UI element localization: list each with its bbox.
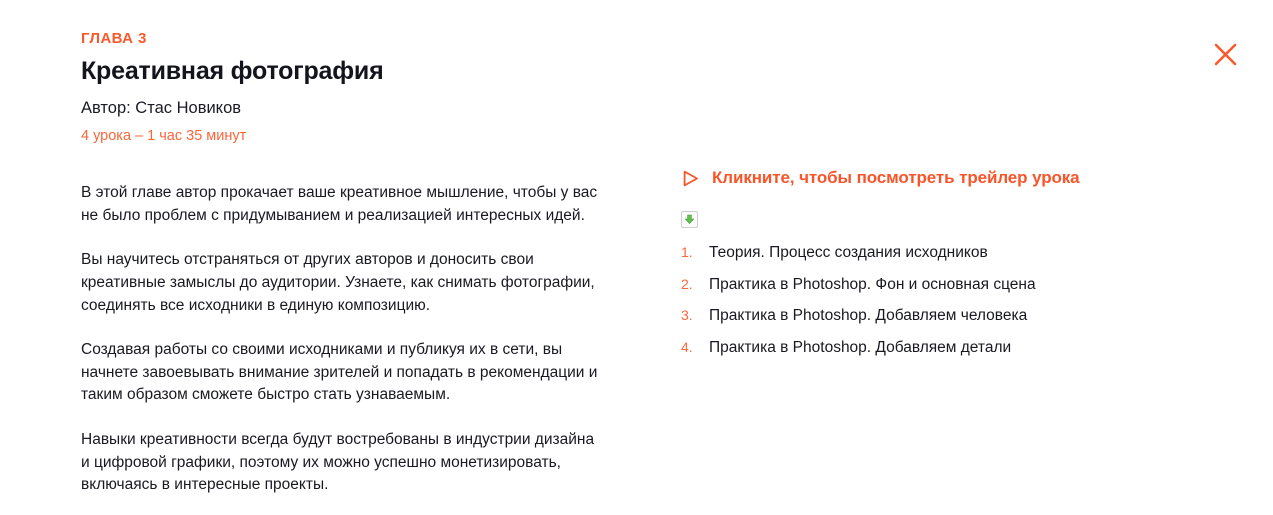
content-columns: ГЛАВА 3 Креативная фотография Автор: Ста… xyxy=(81,30,1273,497)
list-item[interactable]: 1. Теория. Процесс создания исходников xyxy=(681,242,1273,263)
list-item[interactable]: 3. Практика в Photoshop. Добавляем челов… xyxy=(681,305,1273,326)
chapter-eyebrow: ГЛАВА 3 xyxy=(81,30,601,48)
lesson-title: Практика в Photoshop. Добавляем человека xyxy=(709,305,1027,326)
description-paragraph: Навыки креативности всегда будут востреб… xyxy=(81,429,601,497)
description-paragraph: Вы научитесь отстраняться от других авто… xyxy=(81,249,601,317)
lesson-title: Теория. Процесс создания исходников xyxy=(709,242,988,263)
list-item[interactable]: 4. Практика в Photoshop. Добавляем детал… xyxy=(681,337,1273,358)
lesson-title: Практика в Photoshop. Фон и основная сце… xyxy=(709,274,1036,295)
description-paragraph: В этой главе автор прокачает ваше креати… xyxy=(81,182,601,227)
right-column: Кликните, чтобы посмотреть трейлер урока… xyxy=(681,30,1273,368)
author-line: Автор: Стас Новиков xyxy=(81,98,601,119)
list-item[interactable]: 2. Практика в Photoshop. Фон и основная … xyxy=(681,274,1273,295)
lesson-list: 1. Теория. Процесс создания исходников 2… xyxy=(681,242,1273,358)
lesson-number: 4. xyxy=(681,337,709,358)
chapter-description: В этой главе автор прокачает ваше креати… xyxy=(81,182,601,497)
lesson-number: 3. xyxy=(681,305,709,326)
left-column: ГЛАВА 3 Креативная фотография Автор: Ста… xyxy=(81,30,601,497)
attachment-badge[interactable] xyxy=(681,211,698,228)
description-paragraph: Создавая работы со своими исходниками и … xyxy=(81,339,601,407)
trailer-link-label: Кликните, чтобы посмотреть трейлер урока xyxy=(712,168,1080,188)
lesson-number: 1. xyxy=(681,242,709,263)
duration-meta: 4 урока – 1 час 35 минут xyxy=(81,127,601,146)
lesson-number: 2. xyxy=(681,274,709,295)
chapter-panel: ГЛАВА 3 Креативная фотография Автор: Ста… xyxy=(81,30,1273,515)
lesson-title: Практика в Photoshop. Добавляем детали xyxy=(709,337,1011,358)
play-icon xyxy=(681,169,700,188)
trailer-link[interactable]: Кликните, чтобы посмотреть трейлер урока xyxy=(681,168,1080,188)
page-title: Креативная фотография xyxy=(81,56,601,86)
download-arrow-icon xyxy=(684,214,695,225)
